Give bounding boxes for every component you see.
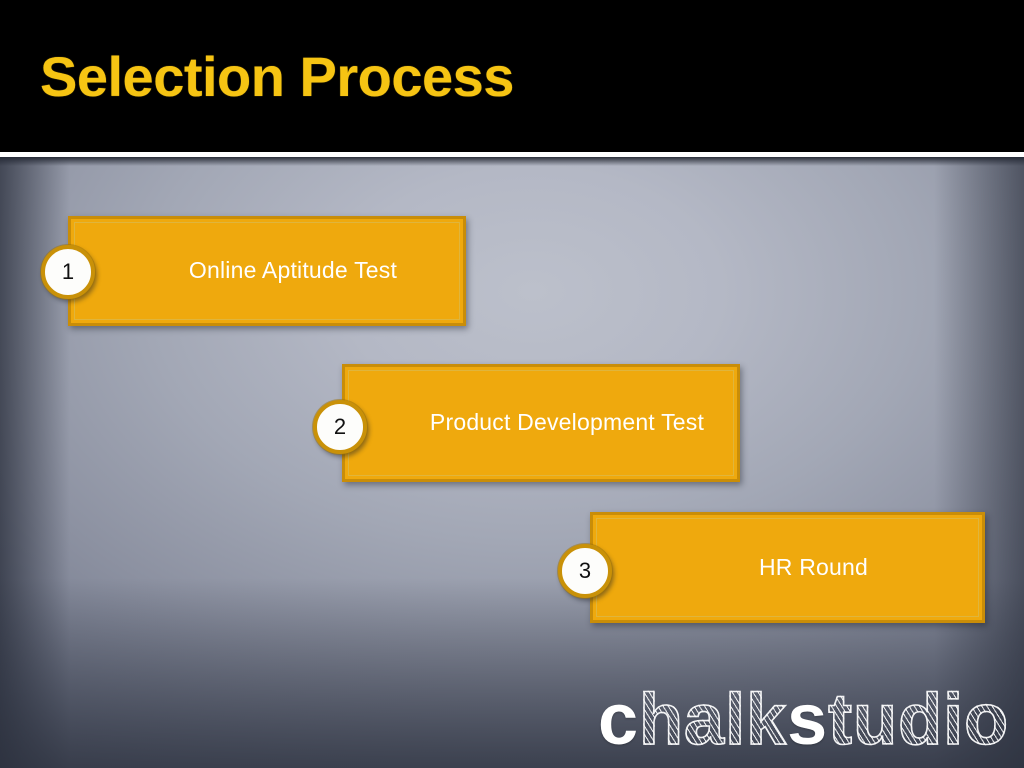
step-3-number-badge[interactable]: 3: [558, 544, 612, 598]
step-2-number-badge[interactable]: 2: [313, 400, 367, 454]
step-1-number: 1: [62, 261, 74, 283]
process-step-2[interactable]: Product Development Test: [342, 364, 740, 482]
process-step-3[interactable]: HR Round: [590, 512, 985, 623]
step-2-label: Product Development Test: [412, 409, 722, 437]
step-3-label: HR Round: [660, 554, 967, 582]
presentation-slide: Selection Process Online Aptitude Test 1…: [0, 0, 1024, 768]
process-step-1[interactable]: Online Aptitude Test: [68, 216, 466, 326]
step-3-number: 3: [579, 560, 591, 582]
watermark-part-c: c: [598, 680, 639, 760]
page-title: Selection Process: [40, 47, 514, 107]
step-1-number-badge[interactable]: 1: [41, 245, 95, 299]
watermark-part-tudio: tudio: [828, 680, 1009, 760]
chalkstudio-watermark: chalkstudio: [598, 684, 1009, 756]
watermark-part-halk: halk: [639, 680, 787, 760]
watermark-part-s: s: [787, 680, 828, 760]
step-1-label: Online Aptitude Test: [138, 257, 448, 285]
step-2-number: 2: [334, 416, 346, 438]
